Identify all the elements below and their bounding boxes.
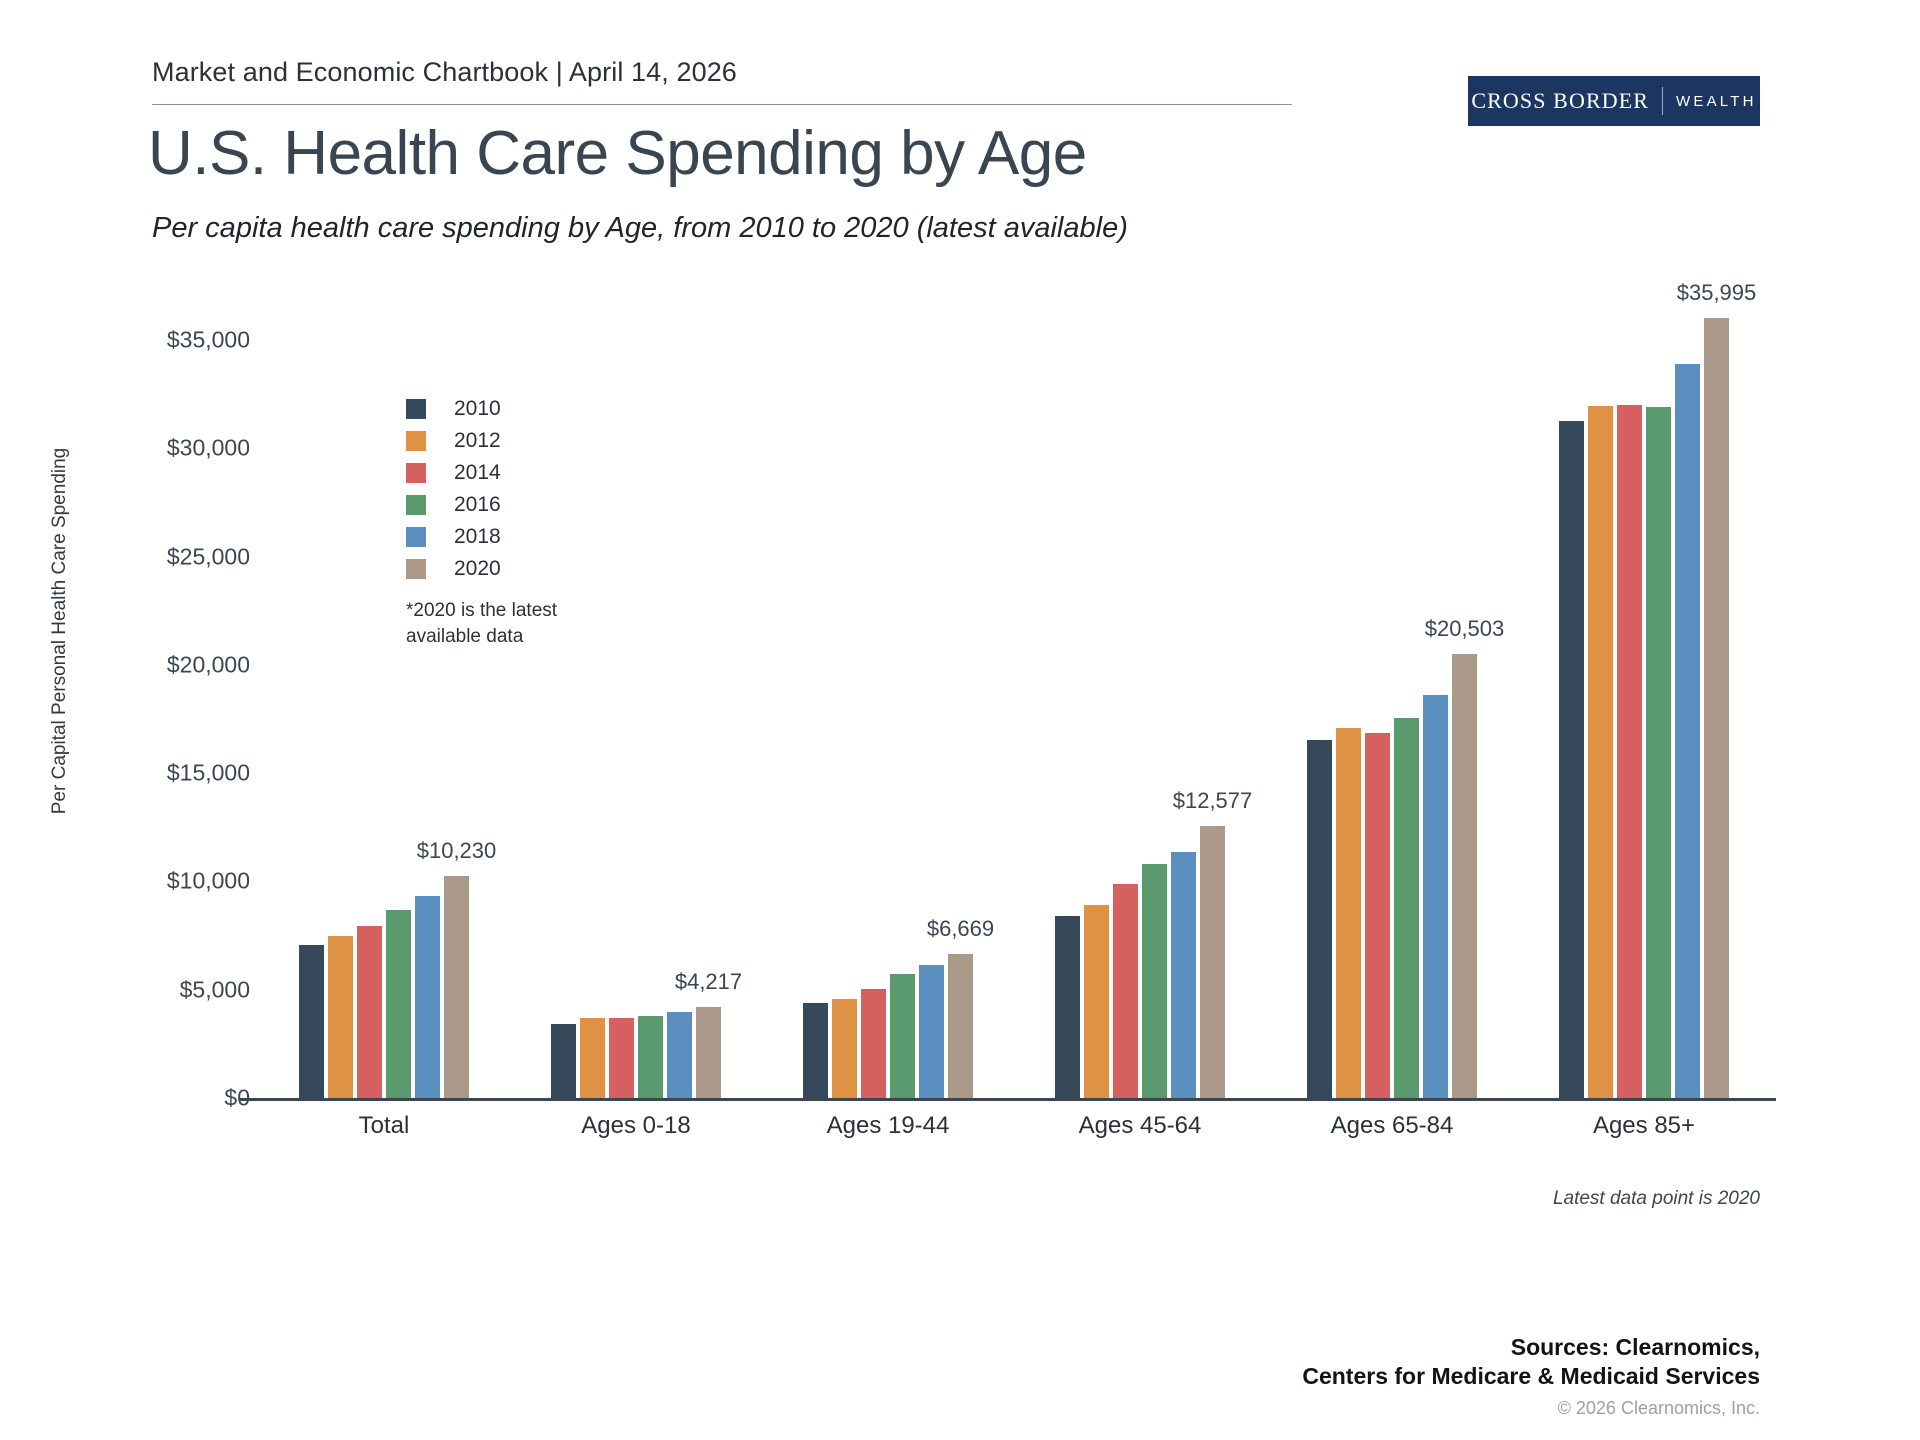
bar-ages-0-18-2020[interactable] — [696, 1007, 721, 1098]
legend-item-2012[interactable]: 2012 — [406, 425, 501, 457]
bar-ages-45-64-2012[interactable] — [1084, 905, 1109, 1098]
y-axis-tick-label: $10,000 — [130, 868, 250, 895]
legend-item-label: 2010 — [454, 397, 501, 421]
bar-group — [1518, 340, 1770, 1098]
legend-item-label: 2018 — [454, 525, 501, 549]
bar-ages-45-64-2018[interactable] — [1171, 852, 1196, 1098]
legend-swatch-icon — [406, 399, 426, 419]
bar-ages-19-44-2016[interactable] — [890, 974, 915, 1098]
legend-swatch-icon — [406, 527, 426, 547]
x-axis-category-label: Ages 0-18 — [510, 1112, 762, 1140]
legend-swatch-icon — [406, 463, 426, 483]
y-axis-tick-label: $30,000 — [130, 435, 250, 462]
bar-ages-19-44-2012[interactable] — [832, 999, 857, 1098]
bar-ages-19-44-2010[interactable] — [803, 1003, 828, 1098]
bar-total-2012[interactable] — [328, 936, 353, 1098]
latest-data-note: Latest data point is 2020 — [1553, 1188, 1760, 1210]
y-axis-tick-label: $20,000 — [130, 651, 250, 678]
bar-ages-85--2010[interactable] — [1559, 421, 1584, 1098]
bar-ages-0-18-2018[interactable] — [667, 1012, 692, 1098]
copyright-text: © 2026 Clearnomics, Inc. — [1558, 1398, 1760, 1419]
y-axis-tick-label: $5,000 — [130, 976, 250, 1003]
bar-group-bars — [1518, 340, 1770, 1098]
bar-total-2018[interactable] — [415, 896, 440, 1098]
bar-ages-85--2014[interactable] — [1617, 405, 1642, 1098]
x-axis-category-label: Ages 45-64 — [1014, 1112, 1266, 1140]
bar-ages-0-18-2012[interactable] — [580, 1018, 605, 1098]
sources-text: Sources: Clearnomics, Centers for Medica… — [1302, 1333, 1760, 1392]
bar-ages-19-44-2020[interactable] — [948, 954, 973, 1098]
x-axis-category-label: Ages 19-44 — [762, 1112, 1014, 1140]
bar-value-label: $35,995 — [1677, 280, 1757, 306]
legend-item-label: 2020 — [454, 557, 501, 581]
legend-item-2016[interactable]: 2016 — [406, 489, 501, 521]
bar-group-bars — [1266, 340, 1518, 1098]
bar-ages-85--2020[interactable] — [1704, 318, 1729, 1098]
y-axis-tick-label: $15,000 — [130, 760, 250, 787]
bar-ages-45-64-2020[interactable] — [1200, 826, 1225, 1098]
bar-ages-85--2012[interactable] — [1588, 406, 1613, 1098]
y-axis-ticks: $35,000$30,000$25,000$20,000$15,000$10,0… — [130, 0, 250, 1440]
bar-ages-85--2018[interactable] — [1675, 364, 1700, 1098]
bar-group-bars — [762, 340, 1014, 1098]
bar-ages-65-84-2014[interactable] — [1365, 733, 1390, 1098]
bar-ages-0-18-2016[interactable] — [638, 1016, 663, 1098]
legend-item-label: 2016 — [454, 493, 501, 517]
legend-footnote: *2020 is the latest available data — [406, 598, 557, 649]
bar-value-label: $12,577 — [1173, 788, 1253, 814]
y-axis-tick-label: $35,000 — [130, 327, 250, 354]
chart-legend: 201020122014201620182020 — [406, 393, 501, 585]
legend-item-2020[interactable]: 2020 — [406, 553, 501, 585]
chartbook-page: Market and Economic Chartbook | April 14… — [0, 0, 1920, 1440]
bar-value-label: $20,503 — [1425, 616, 1505, 642]
legend-item-label: 2014 — [454, 461, 501, 485]
bar-group — [1014, 340, 1266, 1098]
legend-item-2010[interactable]: 2010 — [406, 393, 501, 425]
bar-ages-45-64-2014[interactable] — [1113, 884, 1138, 1098]
bar-ages-0-18-2010[interactable] — [551, 1024, 576, 1098]
bar-ages-65-84-2012[interactable] — [1336, 728, 1361, 1098]
bar-ages-65-84-2016[interactable] — [1394, 718, 1419, 1098]
bar-ages-65-84-2020[interactable] — [1452, 654, 1477, 1098]
bar-value-label: $4,217 — [675, 969, 742, 995]
legend-swatch-icon — [406, 431, 426, 451]
x-axis-category-label: Total — [258, 1112, 510, 1140]
bar-ages-0-18-2014[interactable] — [609, 1018, 634, 1098]
bar-group — [1266, 340, 1518, 1098]
bar-total-2014[interactable] — [357, 926, 382, 1098]
bar-ages-19-44-2014[interactable] — [861, 989, 886, 1098]
bar-value-label: $10,230 — [417, 838, 497, 864]
bar-ages-19-44-2018[interactable] — [919, 965, 944, 1098]
bar-ages-65-84-2010[interactable] — [1307, 740, 1332, 1098]
bar-ages-85--2016[interactable] — [1646, 407, 1671, 1098]
bar-ages-65-84-2018[interactable] — [1423, 695, 1448, 1098]
bar-total-2020[interactable] — [444, 876, 469, 1098]
bar-total-2010[interactable] — [299, 945, 324, 1098]
bar-ages-45-64-2016[interactable] — [1142, 864, 1167, 1098]
legend-swatch-icon — [406, 495, 426, 515]
bar-total-2016[interactable] — [386, 910, 411, 1098]
legend-item-2014[interactable]: 2014 — [406, 457, 501, 489]
bar-ages-45-64-2010[interactable] — [1055, 916, 1080, 1098]
bar-group — [762, 340, 1014, 1098]
bar-chart: Per Capital Personal Health Care Spendin… — [0, 0, 1920, 1440]
legend-item-2018[interactable]: 2018 — [406, 521, 501, 553]
y-axis-title: Per Capital Personal Health Care Spendin… — [49, 421, 71, 841]
bar-value-label: $6,669 — [927, 916, 994, 942]
legend-swatch-icon — [406, 559, 426, 579]
x-axis-category-label: Ages 65-84 — [1266, 1112, 1518, 1140]
x-axis-line — [240, 1098, 1776, 1101]
y-axis-tick-label: $25,000 — [130, 543, 250, 570]
x-axis-category-label: Ages 85+ — [1518, 1112, 1770, 1140]
legend-item-label: 2012 — [454, 429, 501, 453]
y-axis-tick-label: $0 — [130, 1085, 250, 1112]
bar-group-bars — [1014, 340, 1266, 1098]
